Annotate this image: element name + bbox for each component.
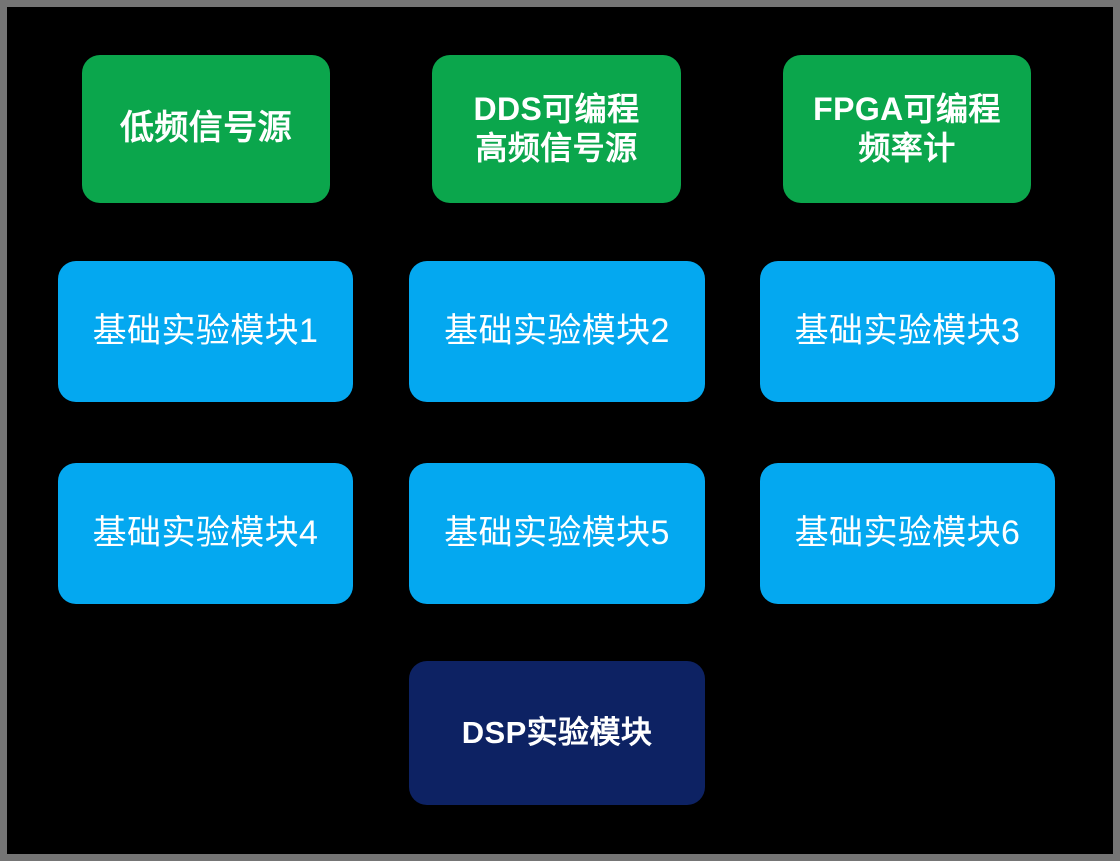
node-low-frequency-signal-source[interactable]: 低频信号源 bbox=[82, 55, 330, 203]
node-dsp-experiment-module[interactable]: DSP实验模块 bbox=[409, 661, 705, 805]
node-fpga-programmable-frequency-counter[interactable]: FPGA可编程 频率计 bbox=[783, 55, 1031, 203]
node-basic-experiment-module-4[interactable]: 基础实验模块4 bbox=[58, 463, 353, 604]
node-dds-programmable-high-frequency-signal-source[interactable]: DDS可编程 高频信号源 bbox=[432, 55, 681, 203]
node-basic-experiment-module-6[interactable]: 基础实验模块6 bbox=[760, 463, 1055, 604]
node-basic-experiment-module-1[interactable]: 基础实验模块1 bbox=[58, 261, 353, 402]
diagram-frame: 低频信号源 DDS可编程 高频信号源 FPGA可编程 频率计 基础实验模块1 基… bbox=[0, 0, 1120, 861]
node-basic-experiment-module-5[interactable]: 基础实验模块5 bbox=[409, 463, 705, 604]
diagram-canvas: 低频信号源 DDS可编程 高频信号源 FPGA可编程 频率计 基础实验模块1 基… bbox=[7, 7, 1113, 854]
node-basic-experiment-module-2[interactable]: 基础实验模块2 bbox=[409, 261, 705, 402]
node-basic-experiment-module-3[interactable]: 基础实验模块3 bbox=[760, 261, 1055, 402]
